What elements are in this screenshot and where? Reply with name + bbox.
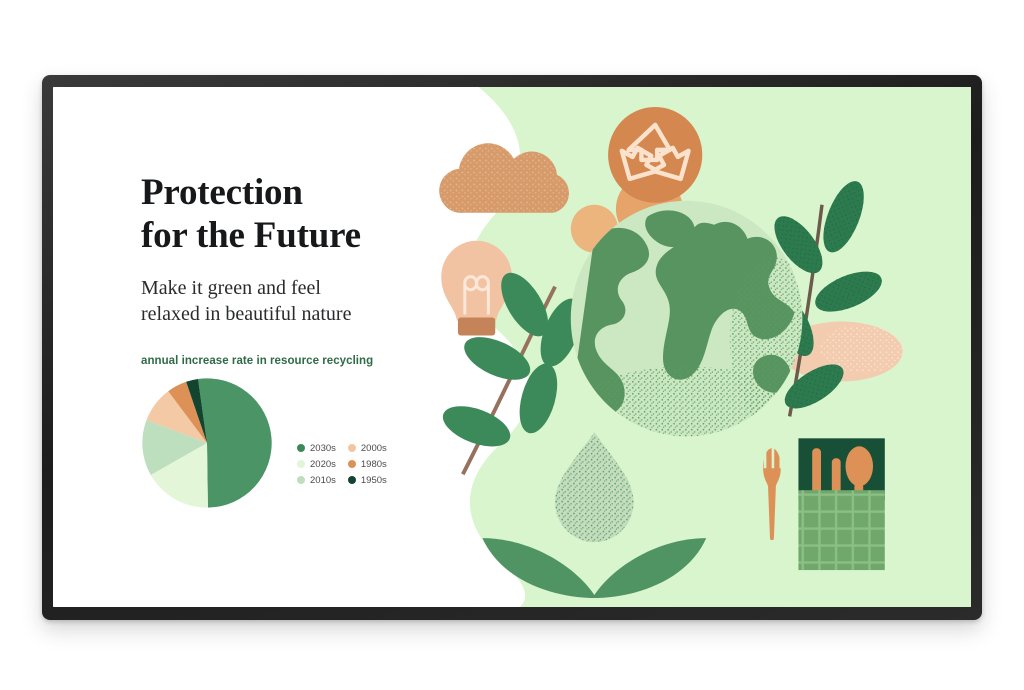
pie-slice-group: 2030s: 522020s: 172010s: 142000s: 91980s… — [142, 378, 271, 507]
legend-item[interactable]: 1950s — [348, 475, 387, 486]
legend-label: 2020s — [310, 459, 336, 470]
presentation-slide: Protection for the Future Make it green … — [53, 87, 971, 607]
page-subtitle: Make it green and feel relaxed in beauti… — [141, 275, 461, 328]
slide-text-column: Protection for the Future Make it green … — [141, 171, 461, 328]
screenshot-canvas: Protection for the Future Make it green … — [0, 0, 1024, 690]
page-title: Protection for the Future — [141, 171, 461, 258]
legend-swatch-icon — [348, 476, 356, 484]
legend-swatch-icon — [297, 460, 305, 468]
legend-label: 1980s — [361, 459, 387, 470]
monitor-screen: Protection for the Future Make it green … — [53, 87, 971, 607]
legend-swatch-icon — [297, 444, 305, 452]
legend-item[interactable]: 2010s — [297, 475, 336, 486]
legend-item[interactable]: 2020s — [297, 459, 336, 470]
pie-slice: 2030s: 52 — [198, 378, 272, 507]
chart-title: annual increase rate in resource recycli… — [141, 355, 471, 367]
legend-label: 1950s — [361, 475, 387, 486]
chart-row: 2030s: 522020s: 172010s: 142000s: 91980s… — [141, 377, 471, 509]
legend-swatch-icon — [348, 460, 356, 468]
legend-label: 2030s — [310, 443, 336, 454]
legend-item[interactable]: 1980s — [348, 459, 387, 470]
legend-item[interactable]: 2030s — [297, 443, 336, 454]
monitor-frame: Protection for the Future Make it green … — [42, 75, 982, 620]
legend-item[interactable]: 2000s — [348, 443, 387, 454]
chart-legend: 2030s2000s2020s1980s2010s1950s — [297, 443, 387, 486]
legend-swatch-icon — [348, 444, 356, 452]
legend-label: 2010s — [310, 475, 336, 486]
legend-swatch-icon — [297, 476, 305, 484]
pie-chart: 2030s: 522020s: 172010s: 142000s: 91980s… — [141, 377, 273, 509]
chart-block: annual increase rate in resource recycli… — [141, 355, 471, 509]
green-wave-panel — [402, 87, 971, 607]
legend-label: 2000s — [361, 443, 387, 454]
